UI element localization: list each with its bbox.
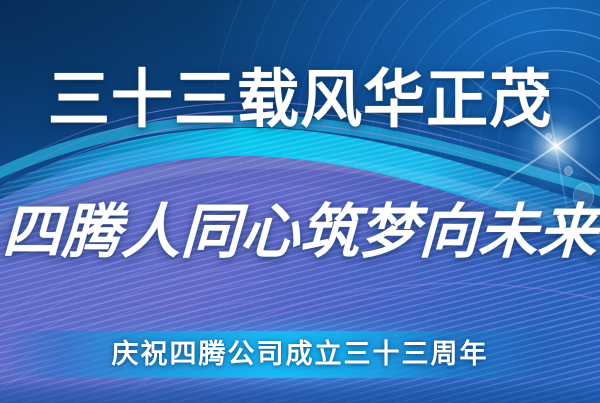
bokeh-circle-icon — [564, 166, 573, 176]
anniversary-banner: 三十三载风华正茂 四腾人同心筑梦向未来 庆祝四腾公司成立三十三周年 — [0, 0, 600, 403]
headline-line-1: 三十三载风华正茂 — [5, 66, 596, 134]
bottom-edge-strip — [0, 378, 600, 403]
subtitle-text: 庆祝四腾公司成立三十三周年 — [0, 337, 600, 371]
headline-line-2: 四腾人同心筑梦向未来 — [0, 200, 600, 264]
